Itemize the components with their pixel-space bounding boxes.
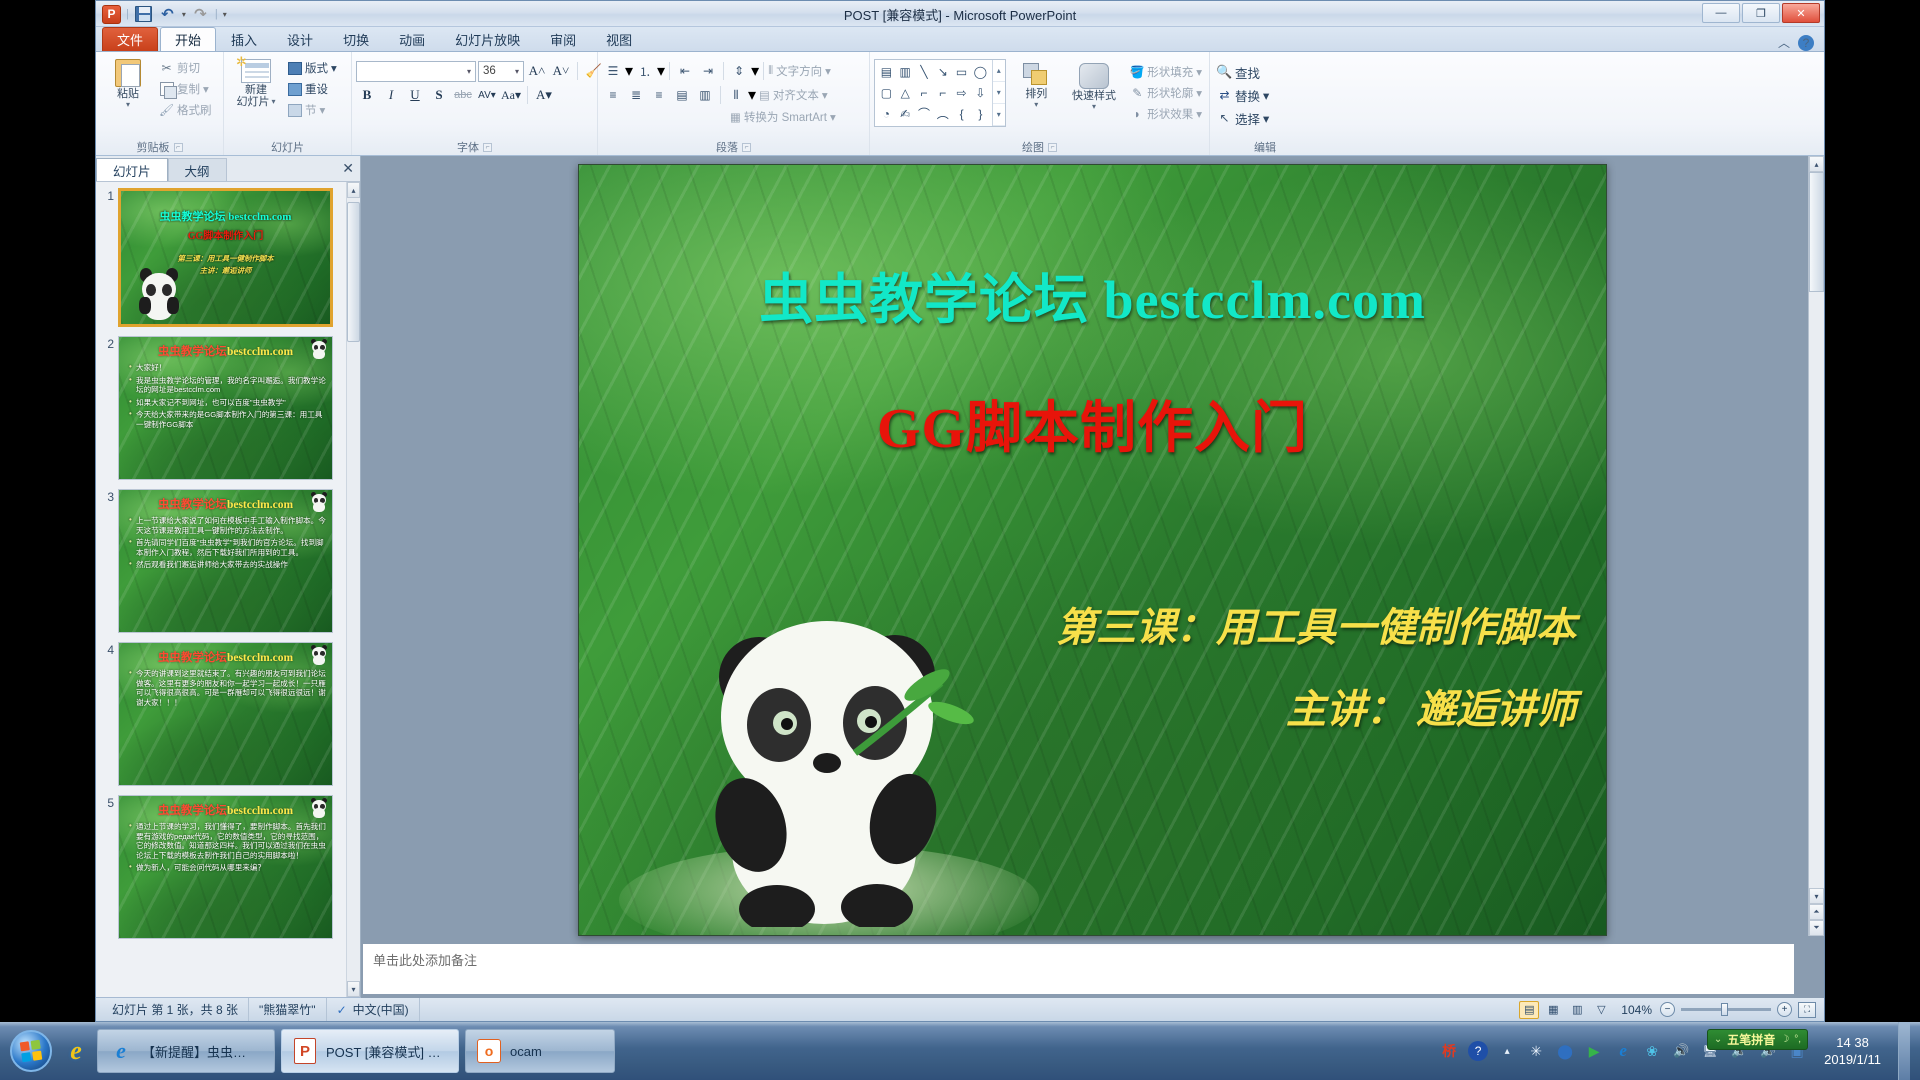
slide-thumbnail-1[interactable]: 虫虫教学论坛 bestcclm.com GG脚本制作入门 第三课：用工具一健制作… <box>118 188 333 327</box>
thumb3-title: 虫虫教学论坛bestcclm.com <box>119 496 332 512</box>
format-painter-label: 格式刷 <box>177 102 212 118</box>
reset-label: 重设 <box>305 81 328 97</box>
normal-view-icon[interactable]: ▤ <box>1519 1001 1539 1019</box>
restore-button[interactable]: ❐ <box>1742 3 1780 23</box>
ribbon-group-slides: ✲ 新建 幻灯片 ▾ 版式 ▾ <box>224 52 352 155</box>
slide-number: 5 <box>100 795 114 939</box>
slide-number: 1 <box>100 188 114 327</box>
strikethrough-icon[interactable]: abc <box>452 85 474 106</box>
ime-expand-icon[interactable]: ⌄ <box>1714 1034 1722 1045</box>
ribbon-group-font: ▾ 36 ▾ A˄ A˅ 🧹 B I U <box>352 52 598 155</box>
taskbar-item-ie[interactable]: e 【新提醒】虫虫… <box>97 1029 275 1073</box>
list-item[interactable]: 3 虫虫教学论坛bestcclm.com 上一节课给大家说了如何在模板中手工输入… <box>100 489 344 633</box>
zoom-slider[interactable] <box>1681 1008 1771 1011</box>
clock-time: 14 38 <box>1824 1034 1881 1051</box>
help-tray-icon[interactable]: ? <box>1468 1041 1488 1061</box>
increase-indent-icon[interactable]: ⇥ <box>697 61 719 82</box>
new-slide-label-1: 新建 <box>245 84 267 96</box>
binoculars-icon: 🔍 <box>1217 65 1232 80</box>
slides-pane: 幻灯片 大纲 ✕ 1 虫虫教学论坛 bestcclm.com GG脚本制作入门 <box>96 156 361 997</box>
drawing-dialog-launcher-icon[interactable]: ⌐ <box>1048 143 1057 152</box>
ie-icon: e <box>70 1036 82 1066</box>
shapes-scroll-up-icon[interactable]: ▴ <box>993 60 1005 82</box>
show-desktop-button[interactable] <box>1898 1022 1910 1080</box>
shapes-gallery[interactable]: ▤ ▥ ╲ ↘ ▭ ◯ ▢ △ ⌐ ⌐ ⇨ ⇩ ◔ <box>874 59 1006 127</box>
slides-thumbnail-list[interactable]: 1 虫虫教学论坛 bestcclm.com GG脚本制作入门 第三课：用工具一健… <box>96 182 360 997</box>
format-painter-button[interactable]: 🖌 格式刷 <box>156 100 215 120</box>
align-text-label: 对齐文本 <box>773 87 819 103</box>
replace-button[interactable]: ⇄ 替换▾ <box>1214 84 1272 106</box>
slide-thumbnail-5[interactable]: 虫虫教学论坛bestcclm.com 通过上节课的学习，我们懂得了，要制作脚本。… <box>118 795 333 939</box>
minimize-button[interactable]: — <box>1702 3 1740 23</box>
copy-button[interactable]: 复制 ▾ <box>156 79 215 99</box>
powerpoint-window: P | ↶ ▾ ↷ | ▾ POST [兼容模式] - Microsoft Po… <box>95 0 1825 1022</box>
group-label-slides: 幻灯片 <box>228 139 347 155</box>
smartart-icon: ▦ <box>730 110 741 124</box>
layout-icon <box>287 61 302 76</box>
section-button[interactable]: 节 ▾ <box>284 100 340 120</box>
help-icon[interactable]: ? <box>1798 35 1814 51</box>
spellcheck-icon: ✓ <box>337 1003 347 1017</box>
start-orb-icon <box>10 1030 52 1072</box>
font-size-dropdown-icon[interactable]: ▾ <box>509 67 519 76</box>
thumb5-bullets: 通过上节课的学习，我们懂得了，要制作脚本。首先我们要有游戏的редак代码，它的… <box>129 822 326 876</box>
shape-effects-label: 形状效果 <box>1147 106 1193 122</box>
cut-label: 剪切 <box>177 60 200 76</box>
reading-view-icon[interactable]: ▥ <box>1567 1001 1587 1019</box>
text-direction-icon: ⦀ <box>768 65 773 78</box>
language-status[interactable]: ✓ 中文(中国) <box>327 998 420 1021</box>
volume-mute-icon[interactable]: 🔊 <box>1671 1041 1691 1061</box>
character-spacing-label: AV <box>478 90 491 101</box>
editor-scroll-thumb[interactable] <box>1809 172 1824 292</box>
zoom-in-button[interactable]: + <box>1777 1002 1792 1017</box>
shape-arrow-icon[interactable]: ↘ <box>933 62 952 83</box>
tab-slideshow[interactable]: 幻灯片放映 <box>440 27 535 51</box>
quick-styles-button[interactable]: 快速样式 ▾ <box>1067 59 1121 111</box>
new-slide-dropdown-icon[interactable]: ▾ <box>271 96 275 108</box>
effects-icon: ◗ <box>1130 108 1144 121</box>
section-dropdown-icon[interactable]: ▾ <box>320 103 326 117</box>
notes-pane[interactable]: 单击此处添加备注 <box>363 942 1794 994</box>
bold-icon[interactable]: B <box>356 85 378 106</box>
slide-count-status: 幻灯片 第 1 张，共 8 张 <box>102 998 249 1021</box>
zoom-level[interactable]: 104% <box>1613 1003 1660 1017</box>
shape-line-icon[interactable]: ╲ <box>915 62 934 83</box>
thumb1-line1: 虫虫教学论坛 bestcclm.com <box>121 208 330 224</box>
ime-tray-icon[interactable]: 桥 <box>1439 1041 1459 1061</box>
layout-button[interactable]: 版式 ▾ <box>284 58 340 78</box>
font-color-icon[interactable]: A▾ <box>533 85 555 106</box>
bullet: 今天的讲课到这里就结束了。有兴趣的朋友可到我们论坛做客。这里有更多的朋友和你一起… <box>129 669 326 707</box>
para-divider-3 <box>763 62 764 80</box>
text-direction-label: 文字方向 <box>776 63 822 79</box>
shape-triangle-icon[interactable]: △ <box>896 83 915 104</box>
ribbon-group-editing: 🔍 查找 ⇄ 替换▾ ↖ 选择▾ 编辑 <box>1210 52 1320 155</box>
slides-label-text: 幻灯片 <box>271 139 304 155</box>
thumb1-line2: GG脚本制作入门 <box>121 227 330 242</box>
ribbon-group-paragraph: ☰▾ ⒈▾ ⇤ ⇥ ⇕▾ ⦀ 文字方向 ▾ <box>598 52 870 155</box>
shape-fill-label: 形状填充 <box>1147 64 1193 80</box>
clipboard-dialog-launcher-icon[interactable]: ⌐ <box>174 143 183 152</box>
panda-icon <box>133 266 185 322</box>
shape-outline-button[interactable]: ✎ 形状轮廓▾ <box>1127 83 1205 103</box>
security-shield-icon[interactable]: ⬤ <box>1555 1041 1575 1061</box>
list-item[interactable]: 4 虫虫教学论坛bestcclm.com 今天的讲课到这里就结束了。有兴趣的朋友… <box>100 642 344 786</box>
numbering-dropdown-icon[interactable]: ▾ <box>657 61 665 81</box>
slide-thumbnail-3[interactable]: 虫虫教学论坛bestcclm.com 上一节课给大家说了如何在模板中手工输入制作… <box>118 489 333 633</box>
shape-rectangle-icon[interactable]: ▭ <box>952 62 971 83</box>
ime-moon-icon[interactable]: ☽ <box>1780 1034 1789 1045</box>
taskbar-item-label: ocam <box>510 1044 542 1059</box>
status-right: ▤ ▦ ▥ ▽ 104% − + ⛶ <box>1517 998 1824 1021</box>
tab-review[interactable]: 审阅 <box>535 27 591 51</box>
slide-thumbnail-4[interactable]: 虫虫教学论坛bestcclm.com 今天的讲课到这里就结束了。有兴趣的朋友可到… <box>118 642 333 786</box>
shape-textbox-icon[interactable]: ▤ <box>877 62 896 83</box>
font-divider-1 <box>577 62 578 80</box>
text-direction-button[interactable]: ⦀ 文字方向 ▾ <box>768 62 831 81</box>
shapes-gallery-scrollbar[interactable]: ▴ ▾ ▾ <box>992 60 1005 126</box>
paste-button[interactable]: 粘贴 ▾ <box>100 55 156 109</box>
tab-view[interactable]: 视图 <box>591 27 647 51</box>
align-text-button[interactable]: ▤ 对齐文本 ▾ <box>759 86 828 105</box>
shape-fill-button[interactable]: 🪣 形状填充▾ <box>1127 62 1205 82</box>
list-item[interactable]: 2 虫虫教学论坛bestcclm.com 大家好！ 我是虫虫教学论坛的管理，我的… <box>100 336 344 480</box>
smartart-label: 转换为 SmartArt <box>744 109 827 125</box>
editor-scroll-down-icon[interactable]: ▾ <box>1809 888 1824 904</box>
shapes-more-icon[interactable]: ▾ <box>993 104 1005 126</box>
layout-dropdown-icon[interactable]: ▾ <box>331 61 337 75</box>
screen: P | ↶ ▾ ↷ | ▾ POST [兼容模式] - Microsoft Po… <box>0 0 1920 1080</box>
slide-title-line1[interactable]: 虫虫教学论坛 bestcclm.com <box>579 255 1606 334</box>
close-button[interactable]: ✕ <box>1782 3 1820 23</box>
media-player-icon[interactable]: ▶ <box>1584 1041 1604 1061</box>
select-button[interactable]: ↖ 选择▾ <box>1214 107 1272 129</box>
shape-arc-icon[interactable]: ︵ <box>933 103 952 124</box>
copy-icon <box>159 82 174 97</box>
font-size-input[interactable]: 36 ▾ <box>478 61 524 82</box>
font-size-value: 36 <box>483 65 496 77</box>
decrease-indent-icon[interactable]: ⇤ <box>674 61 696 82</box>
workspace: 幻灯片 大纲 ✕ 1 虫虫教学论坛 bestcclm.com GG脚本制作入门 <box>96 156 1824 997</box>
slide-title-line2[interactable]: GG脚本制作入门 <box>579 383 1606 464</box>
scroll-thumb[interactable] <box>347 202 360 342</box>
ribbon: 粘贴 ▾ ✂ 剪切 复制 ▾ � <box>96 52 1824 156</box>
group-label-font: 字体 ⌐ <box>356 139 593 155</box>
bullet: 如果大家记不到网址，也可以百度"虫虫教学" <box>129 398 326 408</box>
font-color-label: A <box>536 87 545 103</box>
section-icon <box>287 103 302 118</box>
cut-button[interactable]: ✂ 剪切 <box>156 58 215 78</box>
shape-scribble-icon[interactable]: ✍ <box>896 103 915 124</box>
align-text-icon: ▤ <box>759 88 770 102</box>
bullets-dropdown-icon[interactable]: ▾ <box>625 61 633 81</box>
list-item[interactable]: 5 虫虫教学论坛bestcclm.com 通过上节课的学习，我们懂得了，要制作脚… <box>100 795 344 939</box>
italic-icon[interactable]: I <box>380 85 402 106</box>
thumb4-title: 虫虫教学论坛bestcclm.com <box>119 649 332 665</box>
bullet: 然后观看我们邂逅讲师给大家带去的实战操作 <box>129 560 326 570</box>
new-slide-label-2: 幻灯片 <box>236 96 269 108</box>
shape-effects-button[interactable]: ◗ 形状效果▾ <box>1127 104 1205 124</box>
thumb4-title-en: bestcclm.com <box>227 652 293 664</box>
para-divider-1 <box>669 62 670 80</box>
editor-scroll-track[interactable] <box>1809 172 1824 888</box>
arrange-label: 排列 <box>1025 88 1047 100</box>
find-button[interactable]: 🔍 查找 <box>1214 61 1272 83</box>
shape-right-arrow-icon[interactable]: ⇨ <box>952 83 971 104</box>
new-slide-icon: ✲ <box>241 59 271 83</box>
thumb5-title: 虫虫教学论坛bestcclm.com <box>119 802 332 818</box>
cursor-icon: ↖ <box>1217 111 1232 126</box>
group-label-paragraph: 段落 ⌐ <box>602 139 865 155</box>
thumb2-title-en: bestcclm.com <box>227 346 293 358</box>
font-name-dropdown-icon[interactable]: ▾ <box>461 67 471 76</box>
close-slides-pane-icon[interactable]: ✕ <box>342 160 354 177</box>
character-spacing-icon[interactable]: AV▾ <box>476 85 498 106</box>
taskbar-item-label: POST [兼容模式] … <box>326 1042 441 1061</box>
slide-number: 3 <box>100 489 114 633</box>
shape-down-arrow-icon[interactable]: ⇩ <box>971 83 990 104</box>
collapse-ribbon-icon[interactable]: ︿ <box>1778 34 1790 51</box>
line-spacing-icon[interactable]: ⇕ <box>728 61 750 82</box>
align-center-icon[interactable]: ≣ <box>625 85 647 106</box>
powerpoint-icon: P <box>292 1037 318 1065</box>
reset-button[interactable]: 重设 <box>284 79 340 99</box>
ribbon-group-drawing: ▤ ▥ ╲ ↘ ▭ ◯ ▢ △ ⌐ ⌐ ⇨ ⇩ ◔ <box>870 52 1210 155</box>
cloud-icon[interactable]: ❀ <box>1642 1041 1662 1061</box>
thumb4-bullets: 今天的讲课到这里就结束了。有兴趣的朋友可到我们论坛做客。这里有更多的朋友和你一起… <box>129 669 326 710</box>
paintbrush-icon: 🖌 <box>159 103 174 118</box>
ribbon-tab-bar: 文件 开始 插入 设计 切换 动画 幻灯片放映 审阅 视图 ︿ ? <box>96 27 1824 52</box>
ribbon-group-clipboard: 粘贴 ▾ ✂ 剪切 复制 ▾ � <box>96 52 224 155</box>
tab-slides[interactable]: 幻灯片 <box>96 158 168 181</box>
fit-slide-icon[interactable]: ⛶ <box>1798 1002 1816 1018</box>
slide-number: 2 <box>100 336 114 480</box>
shape-outline-label: 形状轮廓 <box>1147 85 1193 101</box>
slide-thumbnail-2[interactable]: 虫虫教学论坛bestcclm.com 大家好！ 我是虫虫教学论坛的管理，我的名字… <box>118 336 333 480</box>
slide-number: 4 <box>100 642 114 786</box>
tab-home[interactable]: 开始 <box>160 27 216 51</box>
font-name-input[interactable]: ▾ <box>356 61 476 82</box>
paste-dropdown-icon[interactable]: ▾ <box>126 100 130 109</box>
text-shadow-icon[interactable]: S <box>428 85 450 106</box>
list-item[interactable]: 1 虫虫教学论坛 bestcclm.com GG脚本制作入门 第三课：用工具一健… <box>100 188 344 327</box>
taskbar-clock[interactable]: 14 38 2019/1/11 <box>1816 1034 1889 1068</box>
copy-dropdown-icon[interactable]: ▾ <box>203 82 209 96</box>
scroll-track[interactable] <box>347 198 360 981</box>
font-label-text: 字体 <box>457 139 479 155</box>
replace-icon: ⇄ <box>1217 88 1232 103</box>
convert-smartart-button[interactable]: ▦ 转换为 SmartArt ▾ <box>730 108 836 127</box>
paragraph-label-text: 段落 <box>716 139 738 155</box>
ie-icon: e <box>108 1037 134 1065</box>
shape-freeform-icon[interactable]: ◔ <box>877 103 896 124</box>
change-case-label: Aa <box>501 88 515 103</box>
slide-canvas[interactable]: 虫虫教学论坛 bestcclm.com GG脚本制作入门 第三课：用工具一健制作… <box>578 164 1607 936</box>
align-left-icon[interactable]: ≡ <box>602 85 624 106</box>
group-label-clipboard: 剪贴板 ⌐ <box>100 139 219 155</box>
justify-icon[interactable]: ▤ <box>671 85 693 106</box>
zoom-controls: − + ⛶ <box>1660 1002 1824 1018</box>
quick-styles-dropdown-icon[interactable]: ▾ <box>1092 102 1096 111</box>
align-right-icon[interactable]: ≡ <box>648 85 670 106</box>
shape-left-brace-icon[interactable]: { <box>952 103 971 124</box>
bullets-icon[interactable]: ☰ <box>602 61 624 82</box>
thumb5-title-en: bestcclm.com <box>227 805 293 817</box>
start-button[interactable] <box>4 1025 58 1077</box>
antivirus-icon[interactable]: ✳ <box>1526 1041 1546 1061</box>
taskbar-item-ocam[interactable]: o ocam <box>465 1029 615 1073</box>
zoom-out-button[interactable]: − <box>1660 1002 1675 1017</box>
slide-editor: 虫虫教学论坛 bestcclm.com GG脚本制作入门 第三课：用工具一健制作… <box>361 156 1824 997</box>
find-label: 查找 <box>1235 63 1260 82</box>
taskbar: e e 【新提醒】虫虫… P POST [兼容模式] … o ocam 桥 ? … <box>0 1022 1920 1080</box>
slide-sorter-view-icon[interactable]: ▦ <box>1543 1001 1563 1019</box>
ocam-icon: o <box>476 1037 502 1065</box>
bullet: 首先请同学们百度"虫虫教学"到我们的官方论坛。找到脚本制作入门教程，然后下载好我… <box>129 538 326 557</box>
scroll-down-icon[interactable]: ▾ <box>347 981 360 997</box>
next-slide-icon[interactable]: ⏷ <box>1809 920 1824 936</box>
thumb5-title-cn: 虫虫教学论坛 <box>158 805 227 817</box>
tab-design[interactable]: 设计 <box>272 27 328 51</box>
editor-scroll-up-icon[interactable]: ▴ <box>1809 156 1824 172</box>
bullet: 上一节课给大家说了如何在模板中手工输入制作脚本。今天这节课是教用工具一键制作的方… <box>129 516 326 535</box>
change-case-icon[interactable]: Aa▾ <box>500 85 522 106</box>
thumb3-bullets: 上一节课给大家说了如何在模板中手工输入制作脚本。今天这节课是教用工具一键制作的方… <box>129 516 326 573</box>
slideshow-view-icon[interactable]: ▽ <box>1591 1001 1611 1019</box>
thumb2-bullets: 大家好！ 我是虫虫教学论坛的管理，我的名字叫邂逅。我们教学论坛的网址是bestc… <box>129 363 326 433</box>
bullet: 我是虫虫教学论坛的管理，我的名字叫邂逅。我们教学论坛的网址是bestcclm.c… <box>129 376 326 395</box>
panda-illustration <box>659 557 999 927</box>
window-title: POST [兼容模式] - Microsoft PowerPoint <box>96 5 1824 24</box>
bullet: 做为新人，可能会问代码从哪里来编？ <box>129 863 326 873</box>
section-label: 节 <box>305 102 317 118</box>
notes-wrapper: 单击此处添加备注 <box>361 936 1824 998</box>
group-label-editing: 编辑 <box>1214 139 1316 155</box>
show-hidden-icons[interactable]: ▴ <box>1497 1041 1517 1061</box>
group-label-drawing: 绘图 ⌐ <box>874 139 1205 155</box>
reset-icon <box>287 82 302 97</box>
thumb4-title-cn: 虫虫教学论坛 <box>158 652 227 664</box>
system-tray: 桥 ? ▴ ✳ ⬤ ▶ e ❀ 🔊 🖥 🔉 🔊 ▣ 14 38 2019/1/1… <box>1439 1022 1916 1080</box>
ime-punctuation-icon[interactable]: °, <box>1794 1034 1801 1045</box>
ribbon-right-controls: ︿ ? <box>1778 34 1824 51</box>
bullet: 今天给大家带来的是GG脚本制作入门的第三课：用工具一键制作GG脚本 <box>129 410 326 429</box>
clock-date: 2019/1/11 <box>1824 1051 1881 1068</box>
previous-slide-icon[interactable]: ⏶ <box>1809 904 1824 920</box>
panda-icon <box>308 491 330 513</box>
layout-label: 版式 <box>305 60 328 76</box>
paragraph-dialog-launcher-icon[interactable]: ⌐ <box>742 143 751 152</box>
thumb1-line3: 第三课：用工具一健制作脚本 <box>121 253 330 264</box>
browser-tray-icon[interactable]: e <box>1613 1041 1633 1061</box>
drawing-label-text: 绘图 <box>1022 139 1044 155</box>
tab-file[interactable]: 文件 <box>102 27 158 51</box>
scroll-up-icon[interactable]: ▴ <box>347 182 360 198</box>
slides-pane-tabs: 幻灯片 大纲 ✕ <box>96 156 360 182</box>
shapes-scroll-down-icon[interactable]: ▾ <box>993 82 1005 104</box>
arrange-button[interactable]: 排列 ▾ <box>1012 59 1061 109</box>
grow-font-icon[interactable]: A˄ <box>526 61 548 82</box>
arrange-dropdown-icon[interactable]: ▾ <box>1034 100 1038 109</box>
columns-dropdown-icon[interactable]: ▾ <box>748 85 756 105</box>
status-bar: 幻灯片 第 1 张，共 8 张 "熊猫翠竹" ✓ 中文(中国) ▤ ▦ ▥ ▽ … <box>96 997 1824 1021</box>
panda-icon <box>308 644 330 666</box>
tab-outline[interactable]: 大纲 <box>168 158 227 181</box>
shape-elbow-connector-icon[interactable]: ⌐ <box>915 83 934 104</box>
outline-pen-icon: ✎ <box>1130 87 1144 100</box>
para-divider-4 <box>720 86 721 104</box>
shape-rounded-rect-icon[interactable]: ▢ <box>877 83 896 104</box>
editor-scrollbar[interactable]: ▴ ▾ ⏶ ⏷ <box>1808 156 1824 936</box>
shape-curve-icon[interactable]: ⌒ <box>915 103 934 124</box>
font-dialog-launcher-icon[interactable]: ⌐ <box>483 143 492 152</box>
shrink-font-icon[interactable]: A˅ <box>550 61 572 82</box>
thumb3-title-en: bestcclm.com <box>227 499 293 511</box>
thumb2-title-cn: 虫虫教学论坛 <box>158 346 227 358</box>
shape-right-brace-icon[interactable]: } <box>971 103 990 124</box>
clipboard-label-text: 剪贴板 <box>137 139 170 155</box>
new-slide-button[interactable]: ✲ 新建 幻灯片 ▾ <box>228 55 284 108</box>
internet-explorer-quicklaunch[interactable]: e <box>58 1028 94 1074</box>
window-controls: — ❐ ✕ <box>1702 3 1820 23</box>
title-bar: P | ↶ ▾ ↷ | ▾ POST [兼容模式] - Microsoft Po… <box>96 1 1824 27</box>
columns-icon[interactable]: ⫴ <box>725 85 747 106</box>
thumb2-title: 虫虫教学论坛bestcclm.com <box>119 343 332 359</box>
panda-icon <box>308 338 330 360</box>
numbering-icon[interactable]: ⒈ <box>634 61 656 82</box>
editing-label-text: 编辑 <box>1254 139 1276 155</box>
shape-vertical-textbox-icon[interactable]: ▥ <box>896 62 915 83</box>
scissors-icon: ✂ <box>159 61 174 76</box>
tab-animations[interactable]: 动画 <box>384 27 440 51</box>
distribute-icon[interactable]: ▥ <box>694 85 716 106</box>
taskbar-item-label: 【新提醒】虫虫… <box>142 1042 246 1061</box>
slide-canvas-wrap: 虫虫教学论坛 bestcclm.com GG脚本制作入门 第三课：用工具一健制作… <box>361 156 1824 936</box>
paste-icon <box>115 59 141 87</box>
paste-label: 粘贴 <box>117 88 139 100</box>
sparkle-icon: ✲ <box>236 54 247 70</box>
line-spacing-dropdown-icon[interactable]: ▾ <box>751 61 759 81</box>
quick-styles-icon <box>1079 63 1109 89</box>
replace-label: 替换 <box>1235 86 1260 105</box>
panda-icon <box>308 797 330 819</box>
language-label: 中文(中国) <box>353 1001 409 1018</box>
quick-styles-label: 快速样式 <box>1072 90 1116 102</box>
bullet: 大家好！ <box>129 363 326 373</box>
ime-toolbar[interactable]: ⌄ 五笔拼音 ☽ °, <box>1707 1029 1808 1050</box>
shape-elbow-arrow-icon[interactable]: ⌐ <box>933 83 952 104</box>
para-divider-2 <box>723 62 724 80</box>
theme-name-status: "熊猫翠竹" <box>249 998 327 1021</box>
arrange-icon <box>1023 63 1049 87</box>
shape-oval-icon[interactable]: ◯ <box>971 62 990 83</box>
taskbar-item-powerpoint[interactable]: P POST [兼容模式] … <box>281 1029 459 1073</box>
font-divider-2 <box>527 86 528 104</box>
bullet: 通过上节课的学习，我们懂得了，要制作脚本。首先我们要有游戏的редак代码，它的… <box>129 822 326 860</box>
slides-pane-scrollbar[interactable]: ▴ ▾ <box>346 182 360 997</box>
tab-insert[interactable]: 插入 <box>216 27 272 51</box>
thumb3-title-cn: 虫虫教学论坛 <box>158 499 227 511</box>
tab-transitions[interactable]: 切换 <box>328 27 384 51</box>
fill-bucket-icon: 🪣 <box>1130 66 1144 79</box>
underline-icon[interactable]: U <box>404 85 426 106</box>
copy-label: 复制 <box>177 81 200 97</box>
ime-name-label: 五笔拼音 <box>1727 1031 1775 1048</box>
select-label: 选择 <box>1235 109 1260 128</box>
